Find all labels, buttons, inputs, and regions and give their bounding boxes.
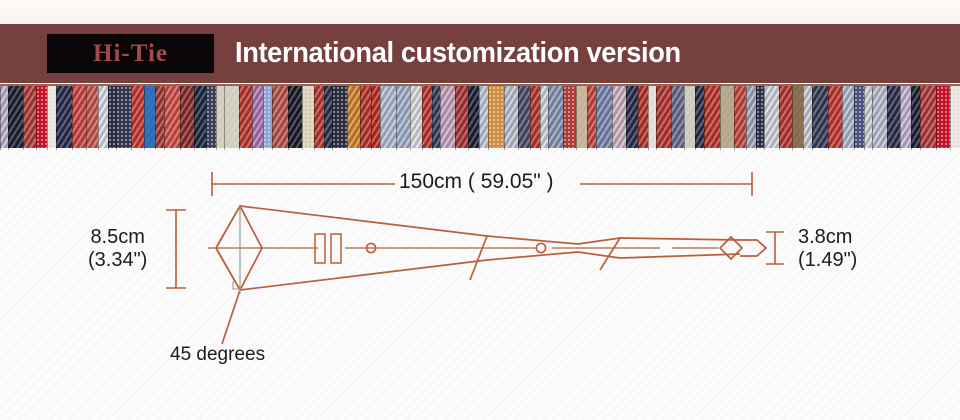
necktie-thumbnail xyxy=(194,86,206,150)
necktie-thumbnail xyxy=(648,86,656,150)
tie-diagram: 150cm ( 59.05" ) 8.5cm (3.34") 3.8cm (1.… xyxy=(0,148,960,420)
necktie-thumbnail xyxy=(779,86,792,150)
necktie-thumbnail xyxy=(803,86,812,150)
necktie-thumbnail xyxy=(180,86,194,150)
necktie-thumbnail xyxy=(842,86,854,150)
narrow-end-cm: 3.8cm xyxy=(798,226,857,249)
narrow-end-dimension-line xyxy=(766,232,784,264)
necktie-thumbnail xyxy=(314,86,324,150)
necktie-thumbnail xyxy=(576,86,587,150)
necktie-thumbnail xyxy=(239,86,252,150)
necktie-thumbnail xyxy=(900,86,911,150)
page-title: International customization version xyxy=(235,37,681,70)
necktie-thumbnail xyxy=(518,86,530,150)
wide-end-dimension-label: 8.5cm (3.34") xyxy=(88,226,147,272)
necktie-thumbnails xyxy=(0,86,960,150)
necktie-thumbnail xyxy=(347,86,360,150)
necktie-thumbnail xyxy=(548,86,563,150)
necktie-thumbnail xyxy=(540,86,548,150)
necktie-thumbnail xyxy=(155,86,164,150)
necktie-thumbnail xyxy=(756,86,764,150)
necktie-thumbnail xyxy=(612,86,626,150)
wide-end-dimension-line xyxy=(166,210,186,288)
necktie-thumbnail xyxy=(704,86,720,150)
brand-logo-text: Hi-Tie xyxy=(93,41,168,66)
necktie-thumbnail xyxy=(0,86,8,150)
necktie-thumbnail xyxy=(684,86,695,150)
necktie-thumbnail xyxy=(854,86,864,150)
necktie-thumbnail xyxy=(288,86,302,150)
necktie-thumbnail xyxy=(108,86,116,150)
necktie-thumbnail xyxy=(656,86,671,150)
keeper-loop-marks xyxy=(315,234,341,263)
seam-point-right xyxy=(536,243,545,252)
necktie-thumbnail xyxy=(116,86,131,150)
necktie-thumbnail xyxy=(263,86,272,150)
necktie-thumbnail xyxy=(587,86,596,150)
top-spacer xyxy=(0,0,960,24)
header-band: Hi-Tie International customization versi… xyxy=(0,24,960,83)
necktie-thumbnail xyxy=(36,86,47,150)
necktie-thumbnail xyxy=(746,86,756,150)
necktie-thumbnail xyxy=(252,86,263,150)
necktie-thumbnail xyxy=(131,86,144,150)
product-spec-banner: Hi-Tie International customization versi… xyxy=(0,0,960,420)
necktie-thumbnail xyxy=(720,86,734,150)
necktie-thumbnail xyxy=(206,86,216,150)
necktie-thumbnail xyxy=(695,86,704,150)
necktie-thumbnail xyxy=(764,86,779,150)
necktie-thumbnail xyxy=(626,86,638,150)
necktie-thumbnail xyxy=(455,86,468,150)
necktie-thumbnail xyxy=(396,86,410,150)
wide-end-cm: 8.5cm xyxy=(88,226,147,249)
necktie-thumbnail xyxy=(671,86,684,150)
necktie-thumbnail xyxy=(224,86,239,150)
necktie-thumbnail xyxy=(422,86,432,150)
necktie-thumbnail xyxy=(596,86,612,150)
necktie-thumbnail xyxy=(936,86,950,150)
necktie-thumbnail xyxy=(432,86,440,150)
narrow-end-dimension-label: 3.8cm (1.49") xyxy=(798,226,857,272)
necktie-thumbnail xyxy=(950,86,960,150)
necktie-thumbnail xyxy=(56,86,72,150)
length-dimension-label: 150cm ( 59.05" ) xyxy=(399,170,554,194)
necktie-thumbnail xyxy=(72,86,86,150)
necktie-thumbnail xyxy=(8,86,23,150)
necktie-thumbnail xyxy=(563,86,576,150)
necktie-thumbnail xyxy=(872,86,887,150)
necktie-thumbnail xyxy=(792,86,803,150)
necktie-thumbnail xyxy=(410,86,422,150)
necktie-thumbnail xyxy=(164,86,180,150)
necktie-thumbnail xyxy=(504,86,518,150)
necktie-thumbnail xyxy=(86,86,98,150)
wide-end-inch: (3.34") xyxy=(88,249,147,272)
necktie-thumbnail xyxy=(324,86,332,150)
necktie-thumbnail xyxy=(47,86,56,150)
necktie-thumbnail xyxy=(360,86,371,150)
angle-leader-line xyxy=(222,290,240,344)
necktie-thumbnail xyxy=(911,86,920,150)
necktie-thumbnail xyxy=(371,86,380,150)
necktie-thumbnail xyxy=(272,86,288,150)
necktie-thumbnail xyxy=(812,86,828,150)
necktie-thumbnail xyxy=(216,86,224,150)
necktie-thumbnail xyxy=(638,86,648,150)
necktie-thumbnail xyxy=(440,86,455,150)
necktie-thumbnail xyxy=(734,86,746,150)
necktie-thumbnail xyxy=(864,86,872,150)
necktie-thumbnail xyxy=(302,86,314,150)
necktie-thumbnail xyxy=(468,86,479,150)
necktie-thumbnail xyxy=(887,86,900,150)
necktie-thumbnail xyxy=(332,86,347,150)
necktie-thumbnail xyxy=(144,86,155,150)
necktie-thumbnail xyxy=(479,86,488,150)
necktie-thumbnail xyxy=(380,86,396,150)
necktie-thumbnail xyxy=(98,86,108,150)
necktie-photo-strip xyxy=(0,84,960,152)
brand-logo: Hi-Tie xyxy=(48,35,213,72)
necktie-thumbnail xyxy=(920,86,936,150)
necktie-thumbnail xyxy=(530,86,540,150)
angle-label: 45 degrees xyxy=(170,344,265,366)
necktie-thumbnail xyxy=(828,86,842,150)
necktie-thumbnail xyxy=(488,86,504,150)
narrow-end-inch: (1.49") xyxy=(798,249,857,272)
necktie-thumbnail xyxy=(23,86,36,150)
